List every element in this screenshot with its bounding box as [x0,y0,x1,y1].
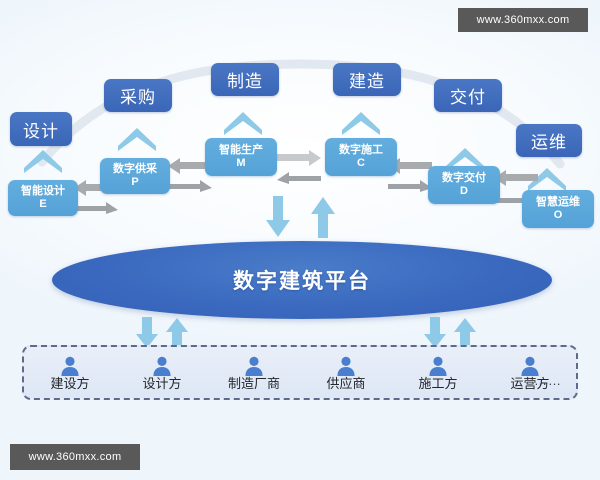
stakeholder-item-contractor[interactable]: 施工方 [392,347,484,398]
digital-node-label: 数字交付 [442,172,486,185]
phase-label: 设计 [23,117,59,142]
person-icon [151,356,173,376]
person-icon [243,356,265,376]
diagram-canvas: 设计 采购 制造 建造 交付 运维 [0,0,600,480]
stakeholder-item-owner[interactable]: 建设方 [24,347,116,398]
chevron-up-icon-manufacture [222,110,264,136]
stakeholder-label: 建设方 [50,377,89,390]
digital-node-label: 数字施工 [339,144,383,157]
phase-box-delivery[interactable]: 交付 [434,79,502,112]
stakeholder-label: 制造厂商 [228,377,280,390]
arrow-down-to-platform-left [265,196,291,238]
watermark-bottom: www.360mxx.com [10,444,140,470]
stakeholder-label: 施工方 [418,377,457,390]
digital-node-d[interactable]: 数字交付 D [428,166,500,204]
stakeholder-row: 建设方 设计方 制造厂商 [24,347,576,398]
phase-label: 交付 [450,83,486,108]
phase-box-operation[interactable]: 运维 [516,124,582,157]
stakeholder-label: 供应商 [326,377,365,390]
digital-node-o[interactable]: 智慧运维 O [522,190,594,228]
person-icon [335,356,357,376]
digital-node-label: 智慧运维 [536,196,580,209]
digital-node-c[interactable]: 数字施工 C [325,138,397,176]
phase-box-procurement[interactable]: 采购 [104,79,172,112]
digital-node-code: D [460,185,468,198]
digital-node-m[interactable]: 智能生产 M [205,138,277,176]
phase-label: 制造 [227,67,263,92]
digital-node-label: 智能生产 [219,144,263,157]
chevron-up-icon-construction [340,110,382,136]
stakeholder-panel: 建设方 设计方 制造厂商 [22,345,578,400]
stakeholder-item-designer[interactable]: 设计方 [116,347,208,398]
person-icon [427,356,449,376]
gray-arrow-m-c [275,150,323,184]
chevron-up-icon-design [22,148,64,174]
platform-ellipse[interactable]: 数字建筑平台 [52,241,552,319]
digital-node-code: P [131,176,138,189]
digital-node-code: M [236,157,245,170]
stakeholder-label: 设计方 [142,377,181,390]
phase-box-design[interactable]: 设计 [10,112,72,146]
phase-label: 采购 [120,83,156,108]
phase-label: 运维 [531,128,567,153]
digital-node-e[interactable]: 智能设计 E [8,180,78,216]
phase-box-construction[interactable]: 建造 [333,63,401,96]
stakeholder-item-manufacturer[interactable]: 制造厂商 [208,347,300,398]
phase-label: 建造 [349,67,385,92]
platform-label: 数字建筑平台 [233,265,371,295]
stakeholder-item-supplier[interactable]: 供应商 [300,347,392,398]
watermark-top: www.360mxx.com [458,8,588,32]
digital-node-code: C [357,157,365,170]
phase-box-manufacture[interactable]: 制造 [211,63,279,96]
digital-node-code: E [39,198,46,211]
person-icon [59,356,81,376]
stakeholder-item-operator[interactable]: 运营方 [484,347,576,398]
chevron-up-icon-procure [116,126,158,152]
digital-node-label: 智能设计 [21,185,65,198]
digital-node-code: O [554,209,563,222]
stakeholder-ellipsis: …… [534,373,562,388]
arrow-up-from-platform-left [310,196,336,238]
digital-node-label: 数字供采 [113,163,157,176]
digital-node-p[interactable]: 数字供采 P [100,158,170,194]
